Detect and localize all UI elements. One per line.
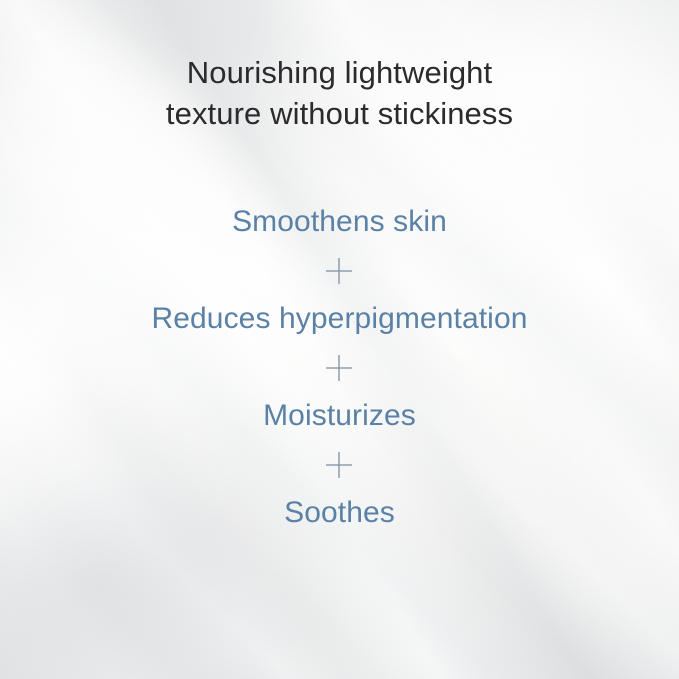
benefit-item-moisturizes: Moisturizes	[263, 398, 416, 434]
benefit-item-soothes: Soothes	[284, 495, 395, 531]
headline: Nourishing lightweight texture without s…	[166, 52, 513, 134]
plus-icon	[325, 257, 353, 285]
benefit-item-reduces-hyperpigmentation: Reduces hyperpigmentation	[151, 301, 527, 337]
product-benefits-graphic: Nourishing lightweight texture without s…	[0, 0, 679, 679]
content-stack: Nourishing lightweight texture without s…	[0, 0, 679, 679]
headline-line-2: texture without stickiness	[166, 96, 513, 131]
plus-icon	[325, 451, 353, 479]
benefits-list: Smoothens skin Reduces hyperpigmentation…	[151, 204, 527, 531]
headline-line-1: Nourishing lightweight	[187, 55, 492, 90]
plus-icon	[325, 354, 353, 382]
benefit-item-smoothens-skin: Smoothens skin	[232, 204, 447, 240]
